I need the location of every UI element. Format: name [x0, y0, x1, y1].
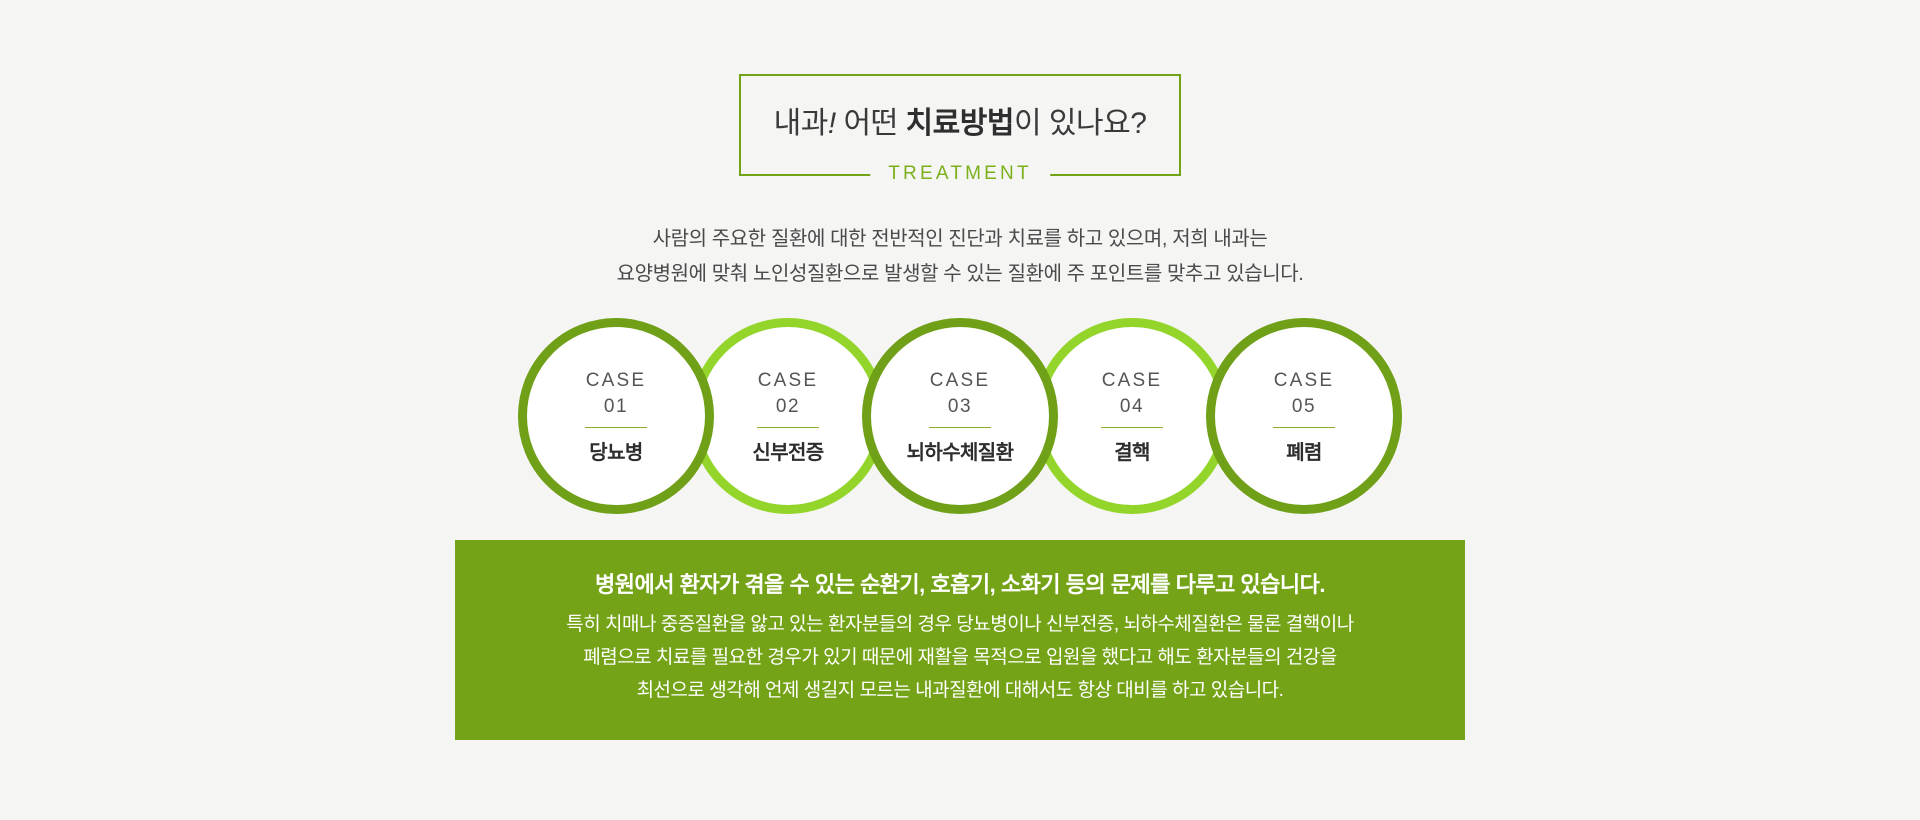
- title-prefix: 내과: [774, 107, 828, 140]
- summary-headline: 병원에서 환자가 겪을 수 있는 순환기, 호흡기, 소화기 등의 문제를 다루…: [455, 568, 1465, 602]
- case-name: 결핵: [1114, 436, 1150, 465]
- case-name: 신부전증: [752, 436, 823, 465]
- treatment-section: 내과! 어떤 치료방법이 있나요? TREATMENT 사람의 주요한 질환에 …: [0, 0, 1920, 820]
- case-label: CASE: [930, 367, 991, 394]
- case-circle-list: CASE 01 당뇨병 CASE 02 신부전증 CASE 03 뇌하수체질환 …: [518, 318, 1402, 514]
- page-title: 내과! 어떤 치료방법이 있나요?: [774, 98, 1147, 142]
- case-circle-01[interactable]: CASE 01 당뇨병: [518, 318, 714, 514]
- case-divider: [1101, 427, 1163, 428]
- case-number: 03: [948, 394, 972, 420]
- case-circle-04[interactable]: CASE 04 결핵: [1034, 318, 1230, 514]
- title-suffix: 이 있나요?: [1014, 107, 1146, 140]
- case-divider: [585, 427, 647, 428]
- summary-body: 특히 치매나 중증질환을 앓고 있는 환자분들의 경우 당뇨병이나 신부전증, …: [455, 608, 1465, 707]
- case-number: 04: [1120, 394, 1144, 420]
- section-heading: 내과! 어떤 치료방법이 있나요? TREATMENT: [739, 74, 1181, 176]
- case-name: 뇌하수체질환: [907, 436, 1014, 465]
- case-divider: [1273, 427, 1335, 428]
- title-middle: 어떤: [836, 107, 906, 140]
- case-label: CASE: [586, 367, 647, 394]
- case-number: 01: [604, 394, 628, 420]
- case-label: CASE: [1274, 367, 1335, 394]
- case-circle-02[interactable]: CASE 02 신부전증: [690, 318, 886, 514]
- case-circle-03[interactable]: CASE 03 뇌하수체질환: [862, 318, 1058, 514]
- case-divider: [757, 427, 819, 428]
- summary-line-2: 폐렴으로 치료를 필요한 경우가 있기 때문에 재활을 목적으로 입원을 했다고…: [455, 641, 1465, 674]
- case-name: 폐렴: [1286, 436, 1322, 465]
- summary-panel: 병원에서 환자가 겪을 수 있는 순환기, 호흡기, 소화기 등의 문제를 다루…: [455, 540, 1465, 740]
- case-label: CASE: [1102, 367, 1163, 394]
- lead-line-1: 사람의 주요한 질환에 대한 전반적인 진단과 치료를 하고 있으며, 저희 내…: [0, 222, 1920, 257]
- title-exclamation: !: [828, 107, 836, 140]
- case-name: 당뇨병: [589, 436, 642, 465]
- case-number: 02: [776, 394, 800, 420]
- case-label: CASE: [758, 367, 819, 394]
- section-subtitle: TREATMENT: [870, 161, 1050, 187]
- summary-line-3: 최선으로 생각해 언제 생길지 모르는 내과질환에 대해서도 항상 대비를 하고…: [455, 674, 1465, 707]
- summary-line-1: 특히 치매나 중증질환을 앓고 있는 환자분들의 경우 당뇨병이나 신부전증, …: [455, 608, 1465, 641]
- case-number: 05: [1292, 394, 1316, 420]
- case-circle-05[interactable]: CASE 05 폐렴: [1206, 318, 1402, 514]
- lead-paragraph: 사람의 주요한 질환에 대한 전반적인 진단과 치료를 하고 있으며, 저희 내…: [0, 222, 1920, 292]
- case-divider: [929, 427, 991, 428]
- heading-box: 내과! 어떤 치료방법이 있나요? TREATMENT: [739, 74, 1181, 176]
- lead-line-2: 요양병원에 맞춰 노인성질환으로 발생할 수 있는 질환에 주 포인트를 맞추고…: [0, 257, 1920, 292]
- title-emphasis: 치료방법: [906, 107, 1014, 140]
